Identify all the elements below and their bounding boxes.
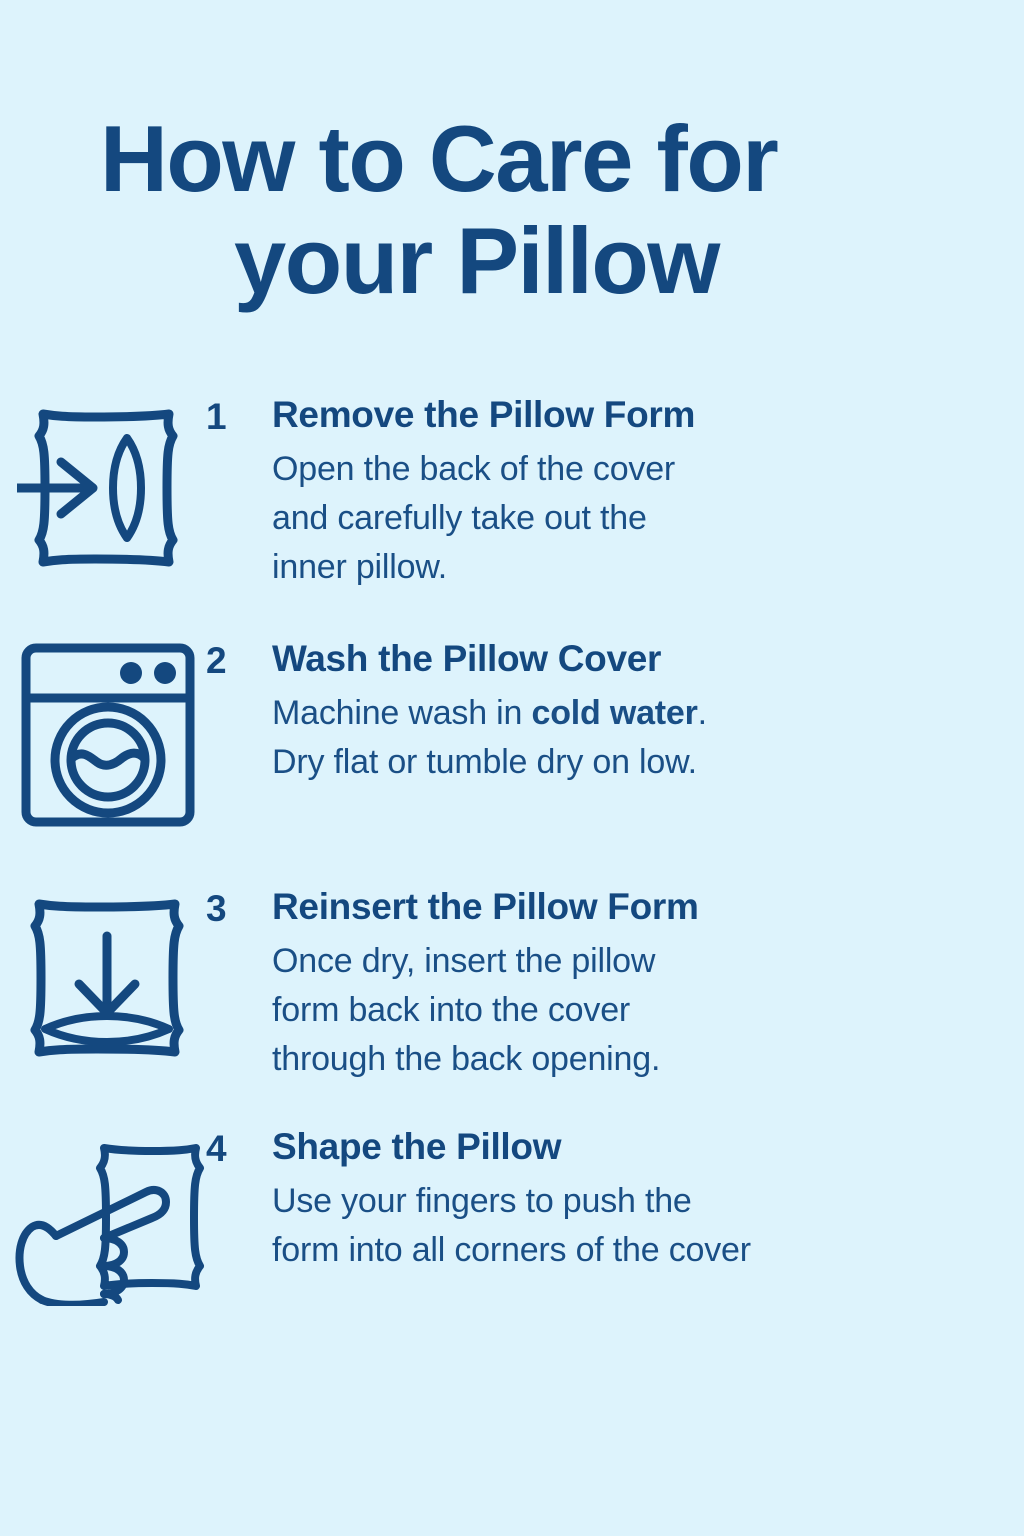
washer-dial-dot-1 — [120, 662, 142, 684]
steps-list: 1 Remove the Pillow Form Open the back o… — [0, 392, 1024, 1306]
step-2-desc-line-2: Dry flat or tumble dry on low. — [272, 743, 697, 781]
step-3-number: 3 — [206, 884, 272, 932]
step-1-body: Remove the Pillow Form Open the back of … — [272, 392, 1024, 592]
step-1-number: 1 — [206, 392, 272, 440]
step-2-description: Machine wash in cold water. Dry flat or … — [272, 689, 968, 787]
step-2-number: 2 — [206, 636, 272, 684]
step-2-desc-emphasis: cold water — [532, 694, 698, 732]
step-2-heading: Wash the Pillow Cover — [272, 636, 968, 682]
step-4-body: Shape the Pillow Use your fingers to pus… — [272, 1124, 1024, 1275]
step-item-1: 1 Remove the Pillow Form Open the back o… — [0, 392, 1024, 592]
step-3-body: Reinsert the Pillow Form Once dry, inser… — [272, 884, 1024, 1084]
washing-machine-icon — [18, 640, 198, 830]
infographic-page: How to Care for your Pillow 1 Remove the… — [0, 0, 1024, 1536]
page-title-line-1: How to Care for — [96, 108, 956, 210]
step-1-description: Open the back of the cover and carefully… — [272, 445, 968, 592]
step-3-desc-line-3: through the back opening. — [272, 1040, 660, 1078]
step-2-icon-container — [0, 636, 206, 830]
hand-shaping-pillow-icon — [0, 1130, 206, 1306]
step-4-icon-container — [0, 1124, 206, 1306]
step-1-desc-line-2: and carefully take out the — [272, 499, 647, 537]
step-item-4: 4 Shape the Pillow Use your fingers to p… — [0, 1124, 1024, 1306]
pillow-remove-form-icon — [17, 400, 203, 576]
page-title-line-2: your Pillow — [96, 210, 956, 312]
step-1-icon-container — [0, 392, 206, 576]
page-title: How to Care for your Pillow — [96, 108, 956, 311]
step-3-heading: Reinsert the Pillow Form — [272, 884, 968, 930]
step-3-desc-line-2: form back into the cover — [272, 991, 630, 1029]
step-3-desc-line-1: Once dry, insert the pillow — [272, 942, 655, 980]
step-item-2: 2 Wash the Pillow Cover Machine wash in … — [0, 636, 1024, 830]
step-3-description: Once dry, insert the pillow form back in… — [272, 937, 968, 1084]
step-4-heading: Shape the Pillow — [272, 1124, 968, 1170]
step-4-description: Use your fingers to push the form into a… — [272, 1177, 968, 1275]
washer-dial-dot-2 — [154, 662, 176, 684]
step-2-body: Wash the Pillow Cover Machine wash in co… — [272, 636, 1024, 787]
step-item-3: 3 Reinsert the Pillow Form Once dry, ins… — [0, 884, 1024, 1084]
step-1-heading: Remove the Pillow Form — [272, 392, 968, 438]
step-3-icon-container — [0, 884, 206, 1068]
step-2-desc-suffix: . — [698, 694, 707, 732]
pillow-insert-form-icon — [17, 892, 203, 1068]
step-4-number: 4 — [206, 1124, 272, 1172]
step-1-desc-line-3: inner pillow. — [272, 548, 447, 586]
step-4-desc-line-1: Use your fingers to push the — [272, 1182, 692, 1220]
step-1-desc-line-1: Open the back of the cover — [272, 450, 675, 488]
step-4-desc-line-2: form into all corners of the cover — [272, 1231, 751, 1269]
step-2-desc-prefix: Machine wash in — [272, 694, 532, 732]
